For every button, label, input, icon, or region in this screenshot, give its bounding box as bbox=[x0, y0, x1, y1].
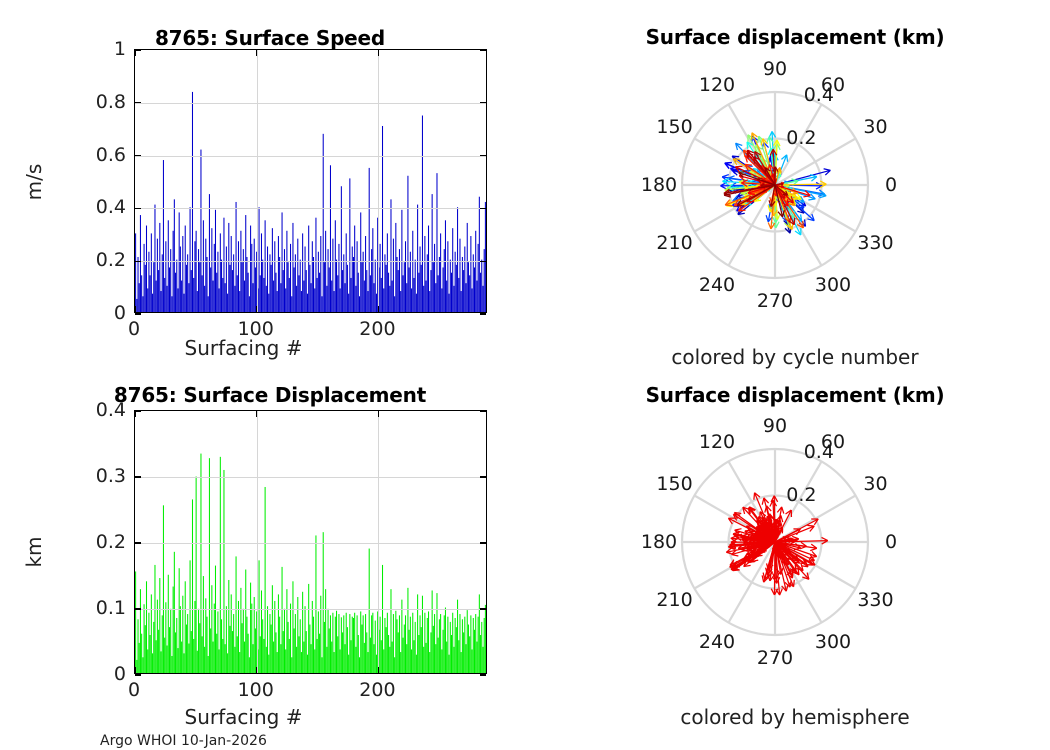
bar bbox=[300, 619, 301, 673]
bar bbox=[176, 260, 177, 312]
bar bbox=[420, 247, 421, 313]
bar bbox=[313, 617, 314, 673]
bar bbox=[141, 634, 142, 673]
bar bbox=[272, 585, 273, 673]
bar bbox=[266, 286, 267, 312]
bar bbox=[435, 644, 436, 673]
bar bbox=[203, 220, 204, 312]
bar bbox=[181, 642, 182, 673]
bar bbox=[217, 611, 218, 673]
speed-x-axis-label: Surfacing # bbox=[0, 336, 487, 360]
bar bbox=[222, 278, 223, 312]
bar bbox=[278, 236, 279, 312]
bar bbox=[355, 647, 356, 673]
bar bbox=[181, 281, 182, 312]
bar bbox=[171, 656, 172, 673]
bar bbox=[246, 257, 247, 312]
bar bbox=[153, 262, 154, 312]
bar bbox=[473, 254, 474, 312]
bar bbox=[275, 632, 276, 673]
bar bbox=[463, 270, 464, 312]
bar bbox=[269, 254, 270, 312]
bar bbox=[202, 275, 203, 312]
bar bbox=[397, 619, 398, 673]
bar bbox=[223, 218, 224, 312]
bar bbox=[236, 202, 237, 312]
bar bbox=[249, 296, 250, 312]
bar bbox=[389, 286, 390, 312]
bar bbox=[319, 273, 320, 312]
bar bbox=[349, 178, 350, 312]
bar bbox=[221, 619, 222, 673]
bar bbox=[187, 614, 188, 673]
bar bbox=[298, 275, 299, 312]
bar bbox=[146, 581, 147, 673]
bar bbox=[136, 299, 137, 312]
bar bbox=[346, 233, 347, 312]
bar bbox=[466, 283, 467, 312]
bar bbox=[461, 291, 462, 312]
bar bbox=[231, 236, 232, 312]
x-tickmark bbox=[134, 411, 135, 417]
y-tickmark bbox=[480, 208, 486, 209]
bar bbox=[371, 615, 372, 673]
bar bbox=[429, 652, 430, 673]
bar bbox=[476, 642, 477, 673]
bar bbox=[394, 296, 395, 312]
bar bbox=[459, 239, 460, 312]
bar bbox=[139, 643, 140, 673]
displacement-x-axis-label: Surfacing # bbox=[0, 705, 487, 729]
bar bbox=[429, 291, 430, 312]
bar bbox=[141, 275, 142, 312]
bar bbox=[450, 622, 451, 673]
y-tick-label: 0.2 bbox=[0, 531, 126, 553]
bar bbox=[409, 267, 410, 312]
bar bbox=[306, 270, 307, 312]
bar bbox=[261, 590, 262, 673]
bar bbox=[478, 244, 479, 312]
y-tickmark bbox=[480, 476, 486, 477]
bar bbox=[161, 651, 162, 673]
bar bbox=[167, 286, 168, 312]
bar bbox=[469, 275, 470, 312]
bar bbox=[434, 244, 435, 312]
bar bbox=[262, 260, 263, 312]
bar bbox=[216, 634, 217, 673]
bar bbox=[413, 640, 414, 673]
bar bbox=[367, 652, 368, 673]
bar bbox=[150, 275, 151, 312]
bar bbox=[334, 652, 335, 673]
bar bbox=[424, 613, 425, 673]
bar bbox=[439, 619, 440, 673]
bar bbox=[438, 275, 439, 312]
bar bbox=[323, 134, 324, 312]
bar bbox=[233, 614, 234, 673]
bar bbox=[382, 565, 383, 673]
bar bbox=[267, 606, 268, 673]
bar bbox=[457, 600, 458, 673]
bar bbox=[428, 226, 429, 312]
x-tickmark bbox=[134, 50, 135, 56]
bar bbox=[347, 265, 348, 312]
bar bbox=[427, 618, 428, 673]
y-tickmark bbox=[480, 674, 486, 675]
bar bbox=[194, 601, 195, 673]
bar bbox=[321, 657, 322, 673]
bar bbox=[461, 652, 462, 673]
bar bbox=[168, 220, 169, 312]
x-tickmark bbox=[378, 50, 379, 56]
bar bbox=[284, 609, 285, 673]
bar bbox=[423, 647, 424, 673]
bar bbox=[386, 265, 387, 312]
bar bbox=[426, 281, 427, 312]
bar bbox=[213, 281, 214, 312]
bar bbox=[238, 601, 239, 673]
bar bbox=[439, 257, 440, 312]
y-tickmark bbox=[135, 608, 141, 609]
polar-cycle-plot: 03060901201501802102402703003300.20.4 bbox=[540, 0, 1050, 330]
polar-angle-label: 240 bbox=[699, 631, 735, 653]
bar bbox=[200, 150, 201, 312]
bar bbox=[403, 275, 404, 312]
bar bbox=[294, 267, 295, 312]
bar bbox=[424, 236, 425, 312]
displacement-plot-area bbox=[134, 410, 487, 674]
bar bbox=[481, 260, 482, 312]
bar bbox=[199, 623, 200, 673]
polar-angle-label: 300 bbox=[815, 274, 851, 296]
bar bbox=[282, 567, 283, 673]
bar bbox=[353, 257, 354, 312]
bar bbox=[174, 552, 175, 673]
bar bbox=[451, 635, 452, 673]
bar bbox=[447, 241, 448, 312]
bar bbox=[485, 605, 486, 673]
bar bbox=[158, 630, 159, 673]
polar-radial-label: 0.2 bbox=[786, 127, 816, 149]
gridline-horizontal bbox=[135, 208, 486, 209]
bar bbox=[410, 617, 411, 673]
bar bbox=[202, 636, 203, 673]
bar bbox=[384, 254, 385, 312]
x-tickmark bbox=[256, 50, 257, 56]
bar bbox=[168, 575, 169, 673]
bar bbox=[185, 226, 186, 312]
bar bbox=[237, 636, 238, 673]
bar bbox=[214, 604, 215, 673]
y-tickmark bbox=[480, 49, 486, 50]
bar bbox=[331, 281, 332, 312]
bar bbox=[173, 231, 174, 312]
bar bbox=[216, 273, 217, 312]
bar bbox=[329, 628, 330, 673]
bar bbox=[297, 239, 298, 312]
bar bbox=[271, 625, 272, 673]
bar bbox=[209, 194, 210, 312]
bar bbox=[190, 560, 191, 673]
bar bbox=[265, 487, 266, 673]
bar bbox=[357, 241, 358, 312]
bar bbox=[180, 247, 181, 313]
bar bbox=[199, 262, 200, 312]
bar bbox=[315, 535, 316, 673]
bar bbox=[219, 649, 220, 673]
x-tickmark bbox=[134, 306, 135, 312]
bar bbox=[265, 220, 266, 312]
bar bbox=[354, 613, 355, 673]
bar bbox=[307, 294, 308, 312]
bar bbox=[323, 532, 324, 673]
bar bbox=[324, 262, 325, 312]
bar bbox=[285, 288, 286, 312]
bar bbox=[372, 228, 373, 312]
bar bbox=[358, 273, 359, 312]
bar bbox=[268, 294, 269, 312]
bar bbox=[180, 606, 181, 673]
bar bbox=[349, 614, 350, 673]
bar bbox=[294, 628, 295, 673]
polar-hemisphere-caption: colored by hemisphere bbox=[540, 705, 1050, 729]
bar bbox=[441, 649, 442, 673]
bar bbox=[244, 281, 245, 312]
bar bbox=[138, 619, 139, 673]
bar bbox=[359, 657, 360, 673]
bar bbox=[196, 231, 197, 312]
polar-angle-label: 0 bbox=[885, 174, 897, 196]
panel-surface-displacement: 8765: Surface Displacement km 00.10.20.3… bbox=[0, 375, 540, 750]
bar bbox=[400, 291, 401, 312]
bar bbox=[382, 126, 383, 312]
bar bbox=[204, 647, 205, 673]
bar bbox=[335, 617, 336, 673]
bar bbox=[452, 228, 453, 312]
bar bbox=[336, 260, 337, 312]
bar bbox=[187, 254, 188, 312]
bar bbox=[341, 186, 342, 312]
bar bbox=[440, 614, 441, 673]
bar bbox=[193, 639, 194, 673]
polar-angle-label: 270 bbox=[757, 647, 793, 669]
bar bbox=[445, 608, 446, 674]
bar bbox=[443, 267, 444, 312]
bar bbox=[308, 584, 309, 673]
bar bbox=[182, 236, 183, 312]
bar bbox=[277, 291, 278, 312]
bar bbox=[203, 576, 204, 673]
bar bbox=[261, 233, 262, 312]
bar bbox=[432, 194, 433, 312]
bar bbox=[142, 657, 143, 673]
bar bbox=[400, 652, 401, 673]
bar bbox=[456, 265, 457, 312]
bar bbox=[426, 643, 427, 673]
bar bbox=[292, 223, 293, 312]
bar bbox=[405, 615, 406, 673]
y-tickmark bbox=[480, 155, 486, 156]
bar bbox=[343, 615, 344, 673]
bar bbox=[144, 604, 145, 673]
bar bbox=[433, 262, 434, 312]
bar bbox=[415, 260, 416, 312]
y-tickmark bbox=[480, 542, 486, 543]
polar-angle-label: 90 bbox=[763, 415, 787, 437]
polar-radial-label: 0.4 bbox=[804, 84, 834, 106]
bar bbox=[453, 286, 454, 312]
bar bbox=[361, 262, 362, 312]
y-tickmark bbox=[135, 674, 141, 675]
bar bbox=[186, 625, 187, 673]
y-tickmark bbox=[135, 208, 141, 209]
bar bbox=[351, 278, 352, 312]
bar bbox=[390, 199, 391, 312]
bar bbox=[296, 286, 297, 312]
polar-angle-label: 150 bbox=[656, 473, 692, 495]
y-tickmark bbox=[135, 476, 141, 477]
bar bbox=[305, 606, 306, 673]
bar bbox=[232, 631, 233, 673]
bar bbox=[332, 239, 333, 312]
bar bbox=[312, 241, 313, 312]
bar bbox=[440, 233, 441, 312]
bar bbox=[387, 233, 388, 312]
bar bbox=[467, 610, 468, 673]
bar bbox=[326, 286, 327, 312]
bar bbox=[375, 260, 376, 312]
gridline-horizontal bbox=[135, 156, 486, 157]
bar bbox=[302, 592, 303, 673]
bar bbox=[206, 257, 207, 312]
bar bbox=[266, 647, 267, 673]
bar bbox=[259, 560, 260, 673]
bar bbox=[406, 644, 407, 673]
bar bbox=[151, 233, 152, 312]
bar bbox=[380, 244, 381, 312]
bar bbox=[388, 273, 389, 312]
bar bbox=[161, 291, 162, 312]
bar bbox=[475, 231, 476, 312]
bar bbox=[386, 627, 387, 673]
bar bbox=[342, 270, 343, 312]
bar bbox=[317, 278, 318, 312]
bar bbox=[179, 568, 180, 673]
bar bbox=[467, 223, 468, 312]
bar bbox=[156, 640, 157, 673]
polar-hemisphere-plot: 03060901201501802102402703003300.20.4 bbox=[540, 357, 1050, 687]
bar bbox=[480, 273, 481, 312]
bar bbox=[233, 254, 234, 312]
bar bbox=[389, 647, 390, 673]
bar bbox=[252, 283, 253, 312]
bar bbox=[262, 619, 263, 673]
bar bbox=[290, 604, 291, 673]
bar bbox=[399, 249, 400, 312]
bar bbox=[234, 647, 235, 673]
polar-angle-label: 30 bbox=[863, 473, 887, 495]
bar bbox=[295, 254, 296, 312]
bar bbox=[325, 589, 326, 673]
bar bbox=[470, 615, 471, 673]
bar bbox=[135, 571, 136, 673]
bar bbox=[359, 296, 360, 312]
bar bbox=[303, 281, 304, 312]
bar bbox=[444, 249, 445, 312]
bar bbox=[191, 631, 192, 673]
bar bbox=[229, 265, 230, 312]
bar bbox=[301, 291, 302, 312]
bar bbox=[290, 244, 291, 312]
bar bbox=[152, 294, 153, 312]
bar bbox=[165, 602, 166, 673]
bar bbox=[457, 207, 458, 312]
bar bbox=[192, 92, 193, 312]
bar bbox=[334, 291, 335, 312]
bar bbox=[360, 611, 361, 673]
bar bbox=[303, 642, 304, 673]
bar bbox=[399, 615, 400, 673]
bar bbox=[226, 606, 227, 673]
bar bbox=[397, 257, 398, 312]
bar bbox=[404, 262, 405, 312]
gridline-horizontal bbox=[135, 477, 486, 478]
bar bbox=[139, 283, 140, 312]
bar bbox=[236, 556, 237, 673]
bar bbox=[211, 228, 212, 312]
polar-angle-label: 210 bbox=[656, 232, 692, 254]
bar bbox=[274, 241, 275, 312]
bar bbox=[446, 281, 447, 312]
bar bbox=[315, 218, 316, 312]
y-tick-label: 0.4 bbox=[0, 399, 126, 421]
bar bbox=[283, 270, 284, 312]
bar bbox=[340, 649, 341, 673]
bar bbox=[409, 630, 410, 673]
y-tickmark bbox=[480, 608, 486, 609]
polar-angle-label: 120 bbox=[699, 74, 735, 96]
bar bbox=[227, 653, 228, 673]
bar bbox=[328, 609, 329, 673]
bar bbox=[240, 231, 241, 312]
bar bbox=[246, 617, 247, 673]
bar bbox=[415, 622, 416, 673]
bar bbox=[365, 614, 366, 673]
polar-angle-label: 300 bbox=[815, 631, 851, 653]
bar bbox=[308, 226, 309, 312]
bar bbox=[330, 165, 331, 312]
bar bbox=[279, 257, 280, 312]
bar bbox=[190, 207, 191, 312]
bar bbox=[248, 273, 249, 312]
bar bbox=[197, 291, 198, 312]
polar-radial-label: 0.2 bbox=[786, 484, 816, 506]
displacement-bars bbox=[135, 411, 486, 673]
bar bbox=[435, 283, 436, 312]
bar bbox=[162, 254, 163, 312]
bar bbox=[215, 566, 216, 673]
bar bbox=[208, 656, 209, 673]
bar bbox=[298, 636, 299, 673]
y-tickmark bbox=[135, 155, 141, 156]
polar-vectors bbox=[726, 493, 827, 595]
bar bbox=[358, 635, 359, 673]
bar bbox=[395, 611, 396, 673]
bar bbox=[263, 278, 264, 312]
bar bbox=[405, 241, 406, 312]
bar bbox=[364, 281, 365, 312]
bar bbox=[254, 239, 255, 312]
